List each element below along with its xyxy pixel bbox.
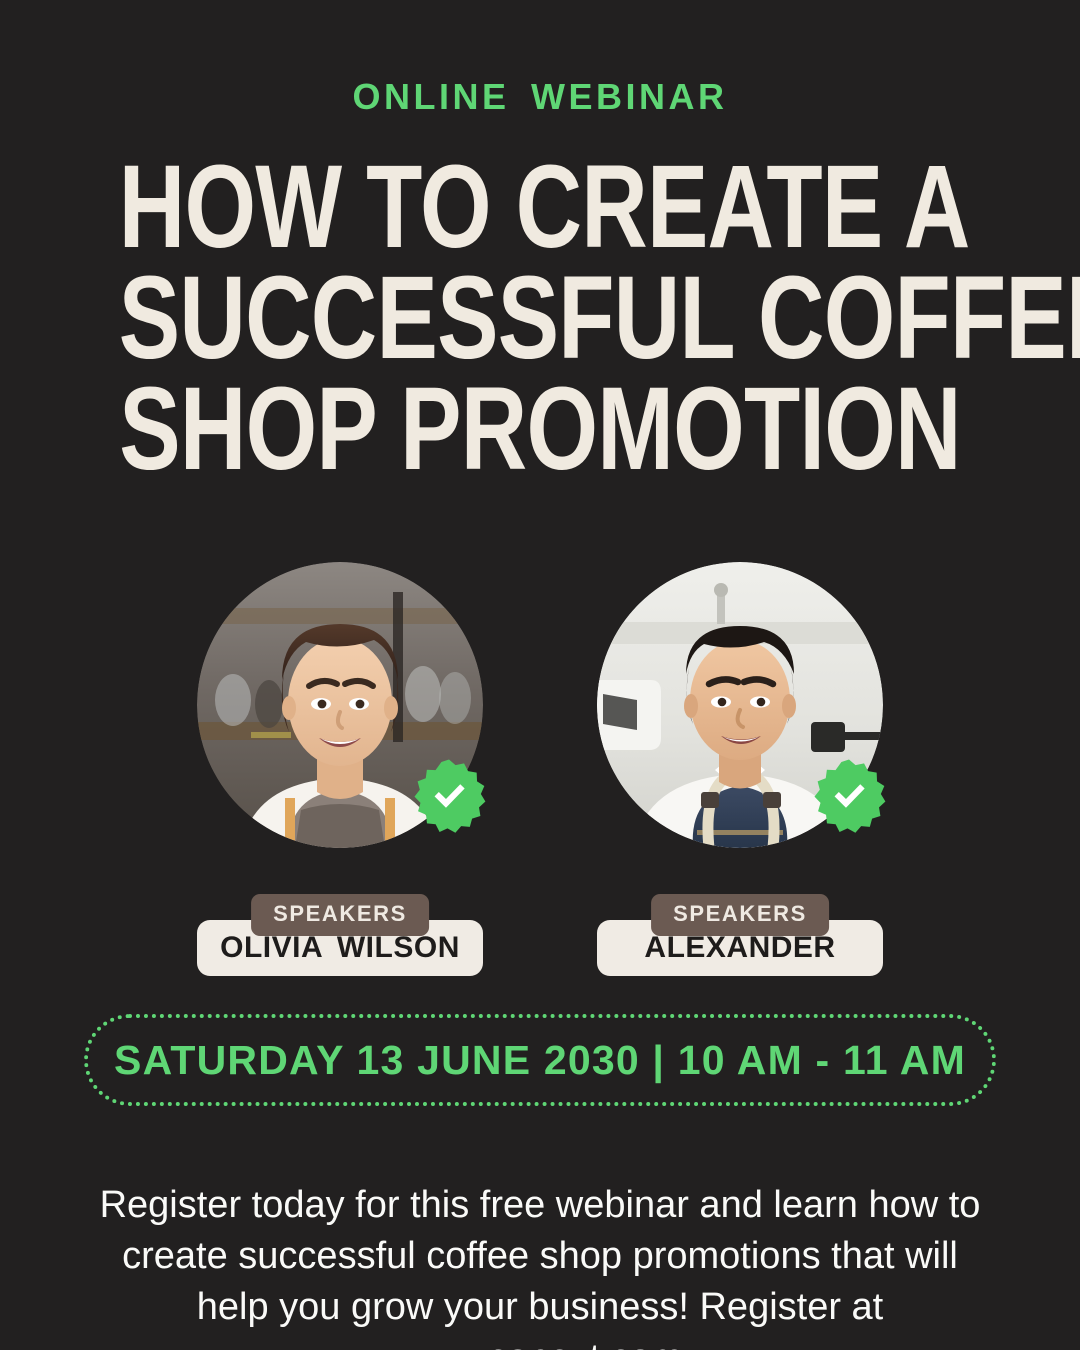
webinar-poster: ONLINE WEBINAR HOW TO CREATE A SUCCESSFU…	[0, 0, 1080, 1350]
speaker-photo-wrap	[597, 562, 883, 848]
headline-line-3: SHOP PROMOTION	[119, 374, 961, 485]
body-paragraph: Register today for this free webinar and…	[90, 1180, 990, 1350]
speakers-row: SPEAKERS OLIVIA WILSON	[0, 562, 1080, 966]
headline-line-1: HOW TO CREATE A	[119, 152, 961, 263]
verified-badge-icon	[411, 758, 487, 834]
page-title: HOW TO CREATE A SUCCESSFUL COFFEE SHOP P…	[0, 152, 1080, 485]
date-time-text: SATURDAY 13 JUNE 2030 | 10 AM - 11 AM	[114, 1037, 966, 1084]
date-time-banner: SATURDAY 13 JUNE 2030 | 10 AM - 11 AM	[84, 1014, 996, 1106]
speaker-name: ALEXANDER	[644, 931, 835, 965]
speaker-nameplate: SPEAKERS ALEXANDER	[597, 894, 883, 966]
speaker-photo-wrap	[197, 562, 483, 848]
speaker-card-olivia-wilson: SPEAKERS OLIVIA WILSON	[197, 562, 483, 966]
speakers-badge: SPEAKERS	[251, 894, 429, 936]
speaker-card-alexander: SPEAKERS ALEXANDER	[597, 562, 883, 966]
verified-badge-icon	[811, 758, 887, 834]
eyebrow-label: ONLINE WEBINAR	[0, 76, 1080, 118]
speakers-badge: SPEAKERS	[651, 894, 829, 936]
speaker-nameplate: SPEAKERS OLIVIA WILSON	[197, 894, 483, 966]
speaker-name: OLIVIA WILSON	[220, 931, 460, 965]
headline-line-2: SUCCESSFUL COFFEE	[119, 263, 961, 374]
